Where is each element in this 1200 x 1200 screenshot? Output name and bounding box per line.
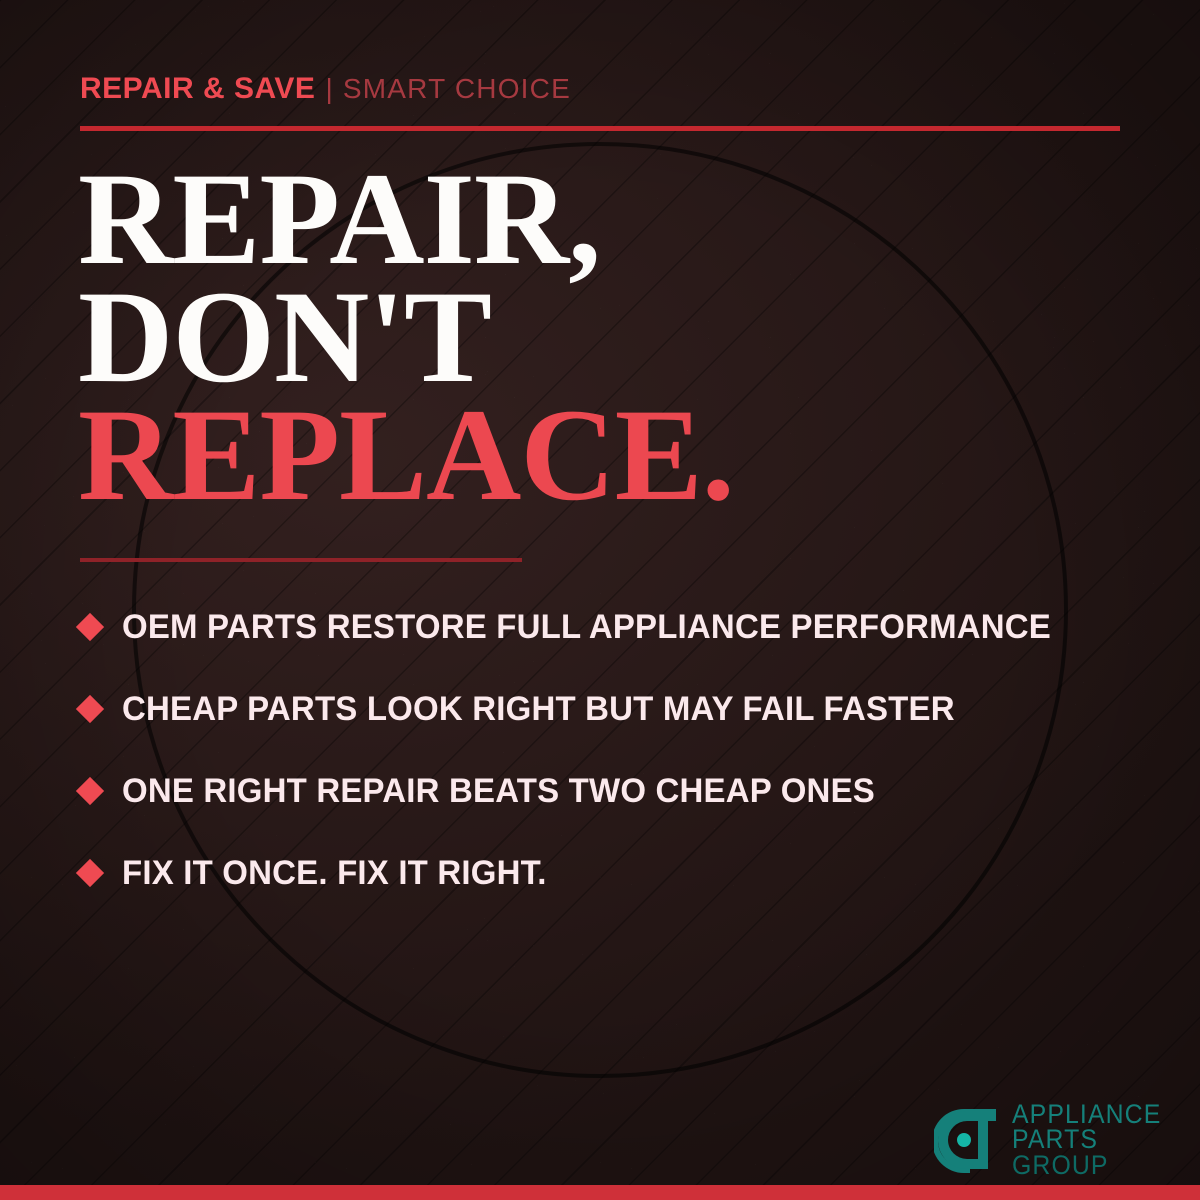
list-item: FIX IT ONCE. FIX IT RIGHT. xyxy=(80,832,1160,914)
brand-logo-wordmark: APPLIANCE PARTS GROUP xyxy=(1012,1102,1174,1178)
diamond-bullet-icon xyxy=(76,613,104,641)
g-monogram-icon xyxy=(934,1107,1000,1173)
headline-line-3: REPLACE. xyxy=(78,396,734,514)
promo-poster: REPAIR & SAVE| SMART CHOICE REPAIR, DON'… xyxy=(0,0,1200,1200)
list-item: ONE RIGHT REPAIR BEATS TWO CHEAP ONES xyxy=(80,750,1160,832)
list-item-label: ONE RIGHT REPAIR BEATS TWO CHEAP ONES xyxy=(122,772,875,811)
kicker-eyebrow: REPAIR & SAVE| SMART CHOICE xyxy=(80,74,571,104)
list-item-label: OEM PARTS RESTORE FULL APPLIANCE PERFORM… xyxy=(122,608,1051,647)
headline-line-1: REPAIR, xyxy=(78,160,734,278)
diamond-bullet-icon xyxy=(76,695,104,723)
headline-divider-rule xyxy=(80,558,522,562)
brand-logo-line-3: GROUP xyxy=(1012,1153,1161,1178)
headline: REPAIR, DON'T REPLACE. xyxy=(78,160,734,514)
diamond-bullet-icon xyxy=(76,859,104,887)
list-item: CHEAP PARTS LOOK RIGHT BUT MAY FAIL FAST… xyxy=(80,668,1160,750)
headline-line-2: DON'T xyxy=(78,278,734,396)
bullet-list: OEM PARTS RESTORE FULL APPLIANCE PERFORM… xyxy=(80,586,1160,914)
list-item-label: CHEAP PARTS LOOK RIGHT BUT MAY FAIL FAST… xyxy=(122,690,955,729)
kicker-light-text: | SMART CHOICE xyxy=(325,73,571,104)
list-item: OEM PARTS RESTORE FULL APPLIANCE PERFORM… xyxy=(80,586,1160,668)
list-item-label: FIX IT ONCE. FIX IT RIGHT. xyxy=(122,854,547,893)
bottom-accent-bar xyxy=(0,1185,1200,1200)
kicker-strong-text: REPAIR & SAVE xyxy=(80,72,315,105)
header-divider-rule xyxy=(80,126,1120,131)
diamond-bullet-icon xyxy=(76,777,104,805)
brand-logo: APPLIANCE PARTS GROUP xyxy=(934,1102,1174,1178)
